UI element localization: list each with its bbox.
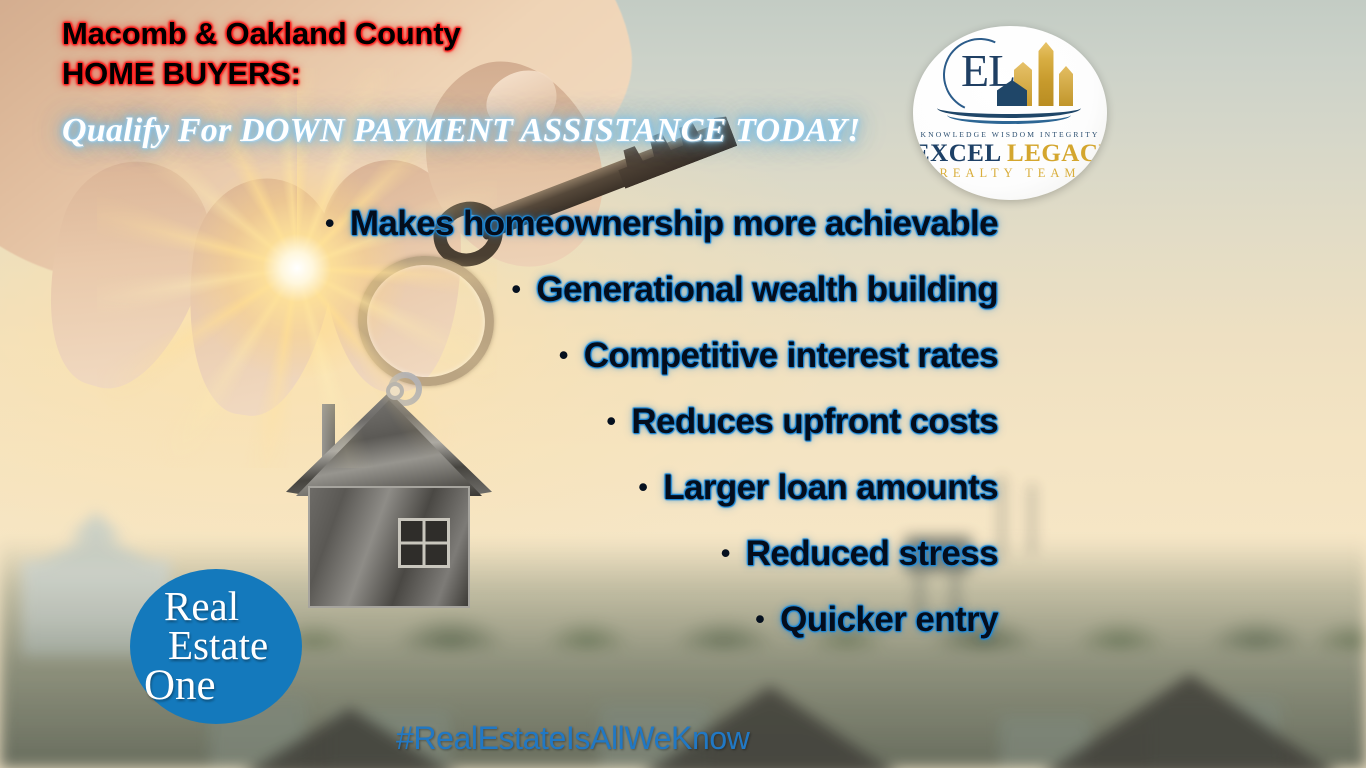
benefit-item: Generational wealth building: [150, 272, 998, 307]
logo-tagline: KNOWLEDGE WISDOM INTEGRITY: [913, 130, 1107, 139]
excel-legacy-emblem: EL: [913, 36, 1107, 122]
hashtag: #RealEstateIsAllWeKnow: [396, 720, 749, 757]
headline-line-2: HOME BUYERS:: [62, 54, 682, 94]
headline-line-1: Macomb & Oakland County: [62, 16, 460, 51]
real-estate-one-text: Real Estate One: [130, 569, 302, 724]
real-estate-one-badge: Real Estate One: [130, 569, 302, 724]
charm-hole: [386, 382, 404, 400]
logo-name-excel: EXCEL: [913, 140, 1007, 167]
headline: Macomb & Oakland County HOME BUYERS:: [62, 14, 682, 93]
reo-line-3: One: [142, 665, 302, 706]
benefit-item: Larger loan amounts: [150, 470, 998, 505]
excel-legacy-logo: EL KNOWLEDGE WISDOM INTEGRITY EXCEL LEGA…: [913, 26, 1107, 200]
flyer-canvas: Macomb & Oakland County HOME BUYERS: Qua…: [0, 0, 1366, 768]
subheadline: Qualify For DOWN PAYMENT ASSISTANCE TODA…: [62, 112, 932, 150]
benefit-item: Reduced stress: [150, 536, 998, 571]
reo-line-2: Estate: [142, 626, 302, 665]
benefit-item: Reduces upfront costs: [150, 404, 998, 439]
logo-subtitle: REALTY TEAM: [913, 166, 1107, 181]
tower-icon: [1029, 42, 1063, 106]
wave-icon: [947, 106, 1071, 124]
benefit-item: Makes homeownership more achievable: [150, 206, 998, 241]
benefit-item: Competitive interest rates: [150, 338, 998, 373]
logo-name: EXCEL LEGACY: [913, 140, 1107, 168]
flyer-content: Macomb & Oakland County HOME BUYERS: Qua…: [0, 0, 1366, 768]
logo-name-legacy: LEGACY: [1007, 140, 1107, 167]
reo-line-1: Real: [142, 587, 302, 626]
